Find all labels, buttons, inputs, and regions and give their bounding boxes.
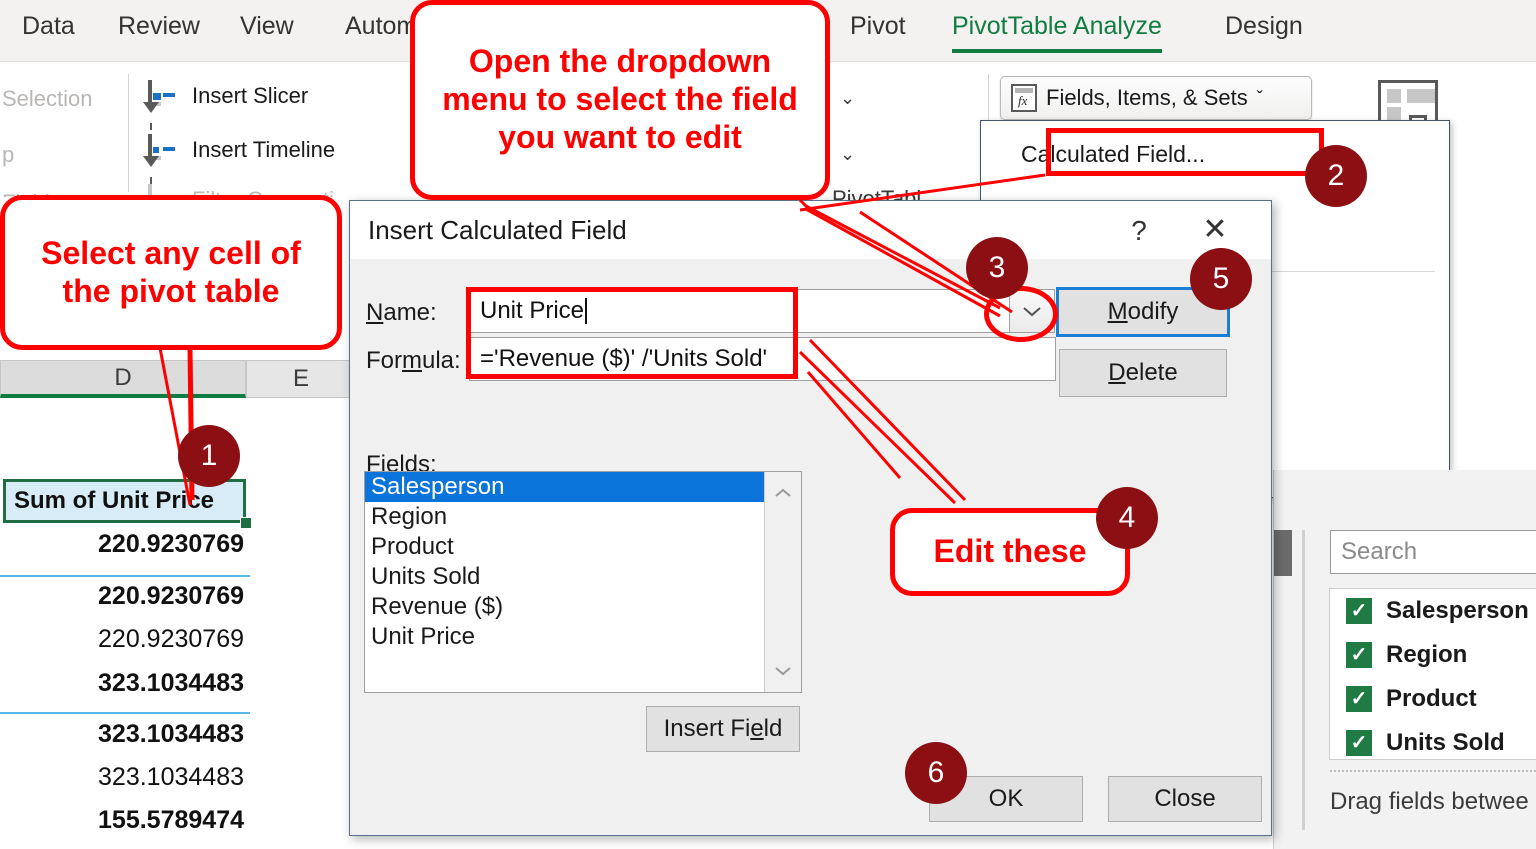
grid-row-rule (0, 575, 250, 577)
delete-button[interactable]: Delete (1059, 349, 1227, 397)
insert-field-button-label: Insert Field (664, 715, 783, 743)
name-label: Name: (366, 299, 437, 327)
panel-field-region[interactable]: ✓ Region (1330, 633, 1536, 677)
tab-pivottable-analyze-label: PivotTable Analyze (952, 12, 1162, 40)
panel-divider (1302, 530, 1305, 830)
calculated-field-highlight (1046, 128, 1324, 176)
column-header-row: D E (0, 360, 352, 398)
field-list-item-region[interactable]: Region (365, 502, 801, 532)
grid-value-row: 220.9230769 (0, 625, 244, 667)
formula-label-text: For (366, 347, 402, 374)
insert-slicer-button[interactable]: Insert Slicer (148, 82, 308, 110)
grid-value-row: 323.1034483 (0, 763, 244, 805)
field-list-item-salesperson[interactable]: Salesperson (365, 472, 801, 502)
name-formula-highlight (466, 287, 798, 379)
screenshot-root: Data Review View Autom Pivot PivotTable … (0, 0, 1536, 849)
fields-items-sets-icon (1011, 84, 1037, 112)
panel-field-label: Salesperson (1386, 597, 1529, 625)
step-badge-6: 6 (905, 742, 967, 804)
ribbon-label-selection: Selection (2, 86, 93, 112)
grid-value-row: 220.9230769 (0, 530, 244, 572)
field-list-item-units-sold[interactable]: Units Sold (365, 562, 801, 592)
panel-field-product[interactable]: ✓ Product (1330, 677, 1536, 721)
tab-pivottable-analyze[interactable]: PivotTable Analyze (952, 12, 1162, 41)
grid-value-row: 220.9230769 (0, 582, 244, 624)
field-list-item-unit-price[interactable]: Unit Price (365, 622, 801, 652)
step-badge-2: 2 (1305, 145, 1367, 207)
fields-listbox[interactable]: Salesperson Region Product Units Sold Re… (364, 471, 802, 693)
insert-field-button[interactable]: Insert Field (646, 706, 800, 752)
tab-review[interactable]: Review (118, 12, 200, 41)
close-icon[interactable]: ✕ (1195, 213, 1235, 249)
panel-field-label: Units Sold (1386, 729, 1505, 757)
grid-value-row: 323.1034483 (0, 669, 244, 711)
panel-field-units-sold[interactable]: ✓ Units Sold (1330, 721, 1536, 765)
ribbon-label-group: p (2, 142, 14, 168)
checkbox-checked-icon[interactable]: ✓ (1346, 730, 1372, 756)
checkbox-checked-icon[interactable]: ✓ (1346, 686, 1372, 712)
dialog-titlebar: Insert Calculated Field ? ✕ (350, 201, 1271, 259)
search-input[interactable]: Search (1330, 530, 1536, 574)
column-header-d[interactable]: D (0, 360, 246, 398)
ribbon-divider-1 (128, 74, 129, 192)
formula-label-rest: ula: (422, 347, 461, 374)
panel-field-label: Region (1386, 641, 1467, 669)
insert-timeline-button[interactable]: Insert Timeline (148, 136, 335, 164)
formula-label: Formula: (366, 347, 461, 375)
pivottable-structure-icon[interactable] (1378, 80, 1438, 124)
scroll-up-icon[interactable] (765, 476, 801, 510)
grid-row-rule (0, 712, 250, 714)
panel-field-list: ✓ Salesperson ✓ Region ✓ Product ✓ Units… (1329, 588, 1536, 760)
fields-listbox-scrollbar[interactable] (764, 472, 801, 692)
callout-edit-these: Edit these (890, 508, 1130, 596)
help-icon[interactable]: ? (1119, 213, 1159, 249)
active-tab-underline (952, 49, 1162, 53)
chevron-down-icon: ˇ (1257, 88, 1263, 109)
panel-field-salesperson[interactable]: ✓ Salesperson (1330, 589, 1536, 633)
grid-value-row: 155.5789474 (0, 806, 244, 848)
dialog-title: Insert Calculated Field (368, 215, 627, 246)
scroll-down-icon[interactable] (765, 654, 801, 688)
panel-field-label: Product (1386, 685, 1477, 713)
timeline-icon (148, 136, 182, 164)
column-header-e[interactable]: E (246, 360, 352, 398)
ribbon-caret-1[interactable]: ⌄ (840, 88, 855, 109)
checkbox-checked-icon[interactable]: ✓ (1346, 642, 1372, 668)
fields-items-sets-label: Fields, Items, & Sets (1046, 85, 1248, 111)
name-label-rest: ame: (383, 299, 436, 326)
pivottable-fields-panel: Search ✓ Salesperson ✓ Region ✓ Product … (1273, 470, 1536, 849)
step-badge-5: 5 (1190, 248, 1252, 310)
delete-button-label: Delete (1108, 359, 1177, 387)
tab-view[interactable]: View (240, 12, 294, 41)
field-list-item-product[interactable]: Product (365, 532, 801, 562)
modify-button-label: Modify (1108, 298, 1179, 326)
insert-timeline-label: Insert Timeline (192, 137, 335, 163)
checkbox-checked-icon[interactable]: ✓ (1346, 598, 1372, 624)
field-list-item-revenue[interactable]: Revenue ($) (365, 592, 801, 622)
panel-dotted-divider (1330, 770, 1536, 772)
fill-handle[interactable] (240, 517, 252, 529)
panel-grabber[interactable] (1274, 530, 1292, 576)
tab-data[interactable]: Data (22, 12, 75, 41)
search-placeholder: Search (1341, 538, 1417, 566)
tab-pivot[interactable]: Pivot (850, 12, 906, 41)
callout-select-cell: Select any cell of the pivot table (0, 195, 342, 350)
close-button[interactable]: Close (1108, 776, 1262, 822)
callout-open-dropdown: Open the dropdown menu to select the fie… (410, 0, 830, 200)
step-badge-3: 3 (966, 237, 1028, 299)
tab-design[interactable]: Design (1225, 12, 1303, 41)
panel-drag-hint: Drag fields betwee (1330, 788, 1529, 816)
tab-automate[interactable]: Autom (345, 12, 417, 41)
insert-slicer-label: Insert Slicer (192, 83, 308, 109)
fields-items-sets-button[interactable]: Fields, Items, & Sets ˇ (1000, 76, 1312, 120)
step-badge-4: 4 (1096, 487, 1158, 549)
slicer-icon (148, 82, 182, 110)
grid-value-row: 323.1034483 (0, 720, 244, 762)
step-badge-1: 1 (178, 425, 240, 487)
ribbon-caret-2[interactable]: ⌄ (840, 144, 855, 165)
